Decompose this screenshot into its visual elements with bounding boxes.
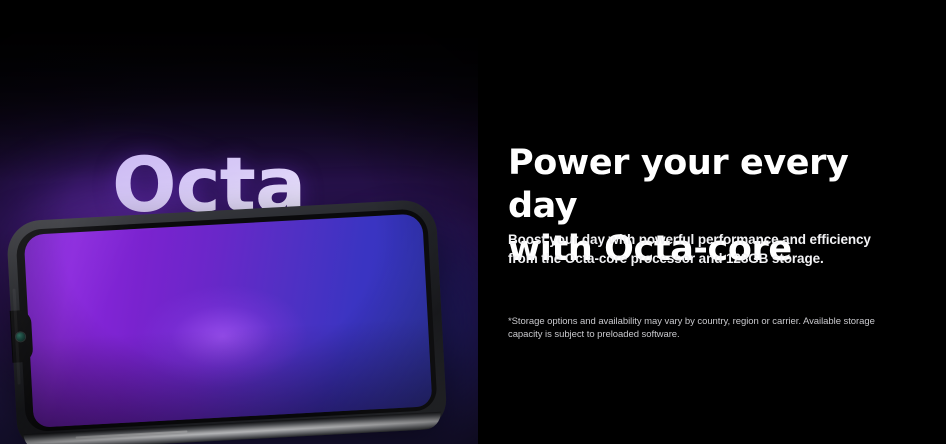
subcopy-text: Boost your day with powerful performance… [508,230,900,268]
disclaimer-text: *Storage options and availability may va… [508,315,906,341]
headline-line-1: Power your every day [508,143,848,226]
hero-image-panel: Octa Core Core [0,32,478,444]
hero-vignette [0,32,478,444]
product-feature-banner: Octa Core Core Power your every day wit [0,0,946,444]
copy-column: Power your every day with Octa-core Boos… [508,0,908,444]
